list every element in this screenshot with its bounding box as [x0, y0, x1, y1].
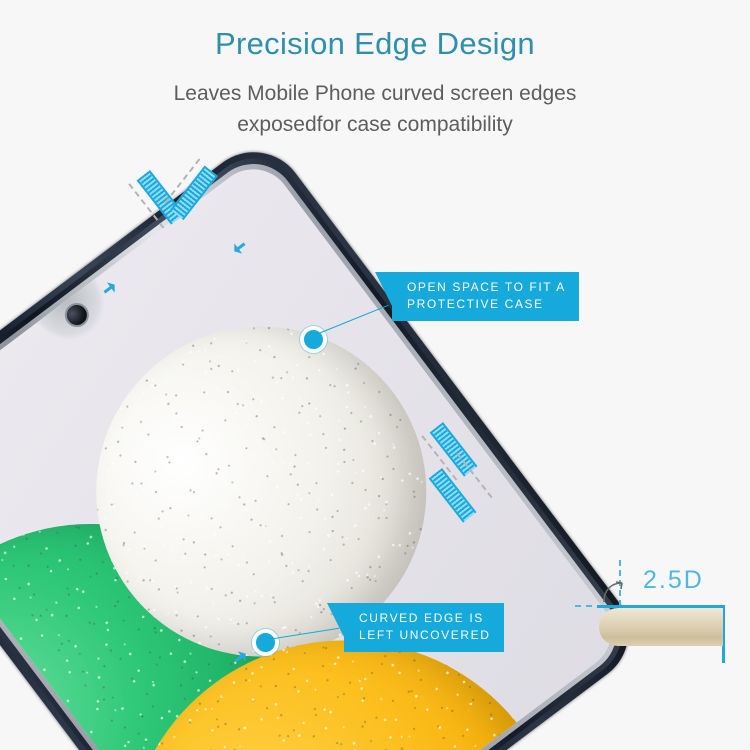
subtitle-line-2: exposedfor case compatibility [0, 109, 750, 140]
callout-open-space-line-2: PROTECTIVE CASE [407, 296, 566, 313]
callout-curved-edge[interactable]: CURVED EDGE IS LEFT UNCOVERED [344, 603, 504, 652]
callout-curved-edge-line-1: CURVED EDGE IS [359, 610, 491, 627]
callout-open-space[interactable]: OPEN SPACE TO FIT A PROTECTIVE CASE [392, 272, 579, 321]
page-subtitle: Leaves Mobile Phone curved screen edges … [0, 78, 750, 140]
callout-curved-edge-line-2: LEFT UNCOVERED [359, 627, 491, 644]
curve-arrow-icon [601, 580, 627, 606]
detail-glass-edge [599, 608, 723, 646]
callout-open-space-line-1: OPEN SPACE TO FIT A [407, 279, 566, 296]
phone-screen [0, 154, 627, 750]
subtitle-line-1: Leaves Mobile Phone curved screen edges [0, 78, 750, 109]
page-title: Precision Edge Design [0, 26, 750, 62]
detail-label: 2.5D [643, 566, 704, 595]
edge-detail-diagram: 2.5D [575, 560, 735, 665]
callout-dot-curved-edge[interactable] [252, 629, 279, 656]
phone-body [0, 131, 649, 750]
product-feature-image: Precision Edge Design Leaves Mobile Phon… [0, 0, 750, 750]
